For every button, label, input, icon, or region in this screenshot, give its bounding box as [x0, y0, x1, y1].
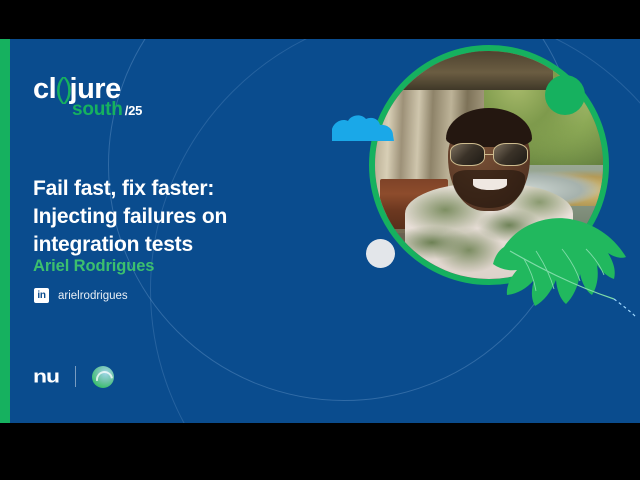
footer-logo-group: nu [33, 365, 114, 388]
speaker-social-handle: arielrodrigues [58, 290, 128, 302]
sunglasses-right-lens [493, 143, 527, 166]
event-logo-subtitle: south [72, 99, 123, 120]
speaker-name: Ariel Rodrigues [33, 257, 154, 276]
sunglasses-bridge [485, 154, 494, 156]
nubank-logo: nu [33, 367, 59, 386]
green-circle-decoration [545, 75, 585, 115]
sunglasses-left-lens [450, 143, 484, 166]
portrait-awning [384, 51, 553, 90]
speaker-photo-composition [330, 39, 640, 423]
portrait-sunglasses [450, 144, 528, 165]
slide-left-column: cl () jure south/25 Fail fast, fix faste… [33, 39, 333, 423]
logo-divider [75, 366, 76, 387]
talk-title: Fail fast, fix faster: Injecting failure… [33, 175, 308, 259]
presentation-slide: cl () jure south/25 Fail fast, fix faste… [0, 39, 640, 423]
event-logo-year: /25 [125, 103, 142, 118]
video-frame: cl () jure south/25 Fail fast, fix faste… [0, 0, 640, 480]
event-logo: cl () jure south/25 [33, 75, 142, 119]
letterbox-top-bar [0, 0, 640, 39]
linkedin-icon: in [34, 288, 49, 303]
speaker-social-row: in arielrodrigues [34, 288, 128, 303]
left-green-stripe [0, 39, 10, 423]
cloud-icon [332, 114, 398, 141]
event-logo-subtitle-row: south/25 [72, 100, 142, 119]
partner-circular-logo [92, 366, 114, 388]
gray-circle-decoration [366, 239, 395, 268]
logo-text-cl: cl [33, 75, 56, 104]
monstera-leaf-icon [488, 207, 636, 327]
logo-parenthesis-icon: () [55, 75, 70, 104]
letterbox-bottom-bar [0, 423, 640, 480]
